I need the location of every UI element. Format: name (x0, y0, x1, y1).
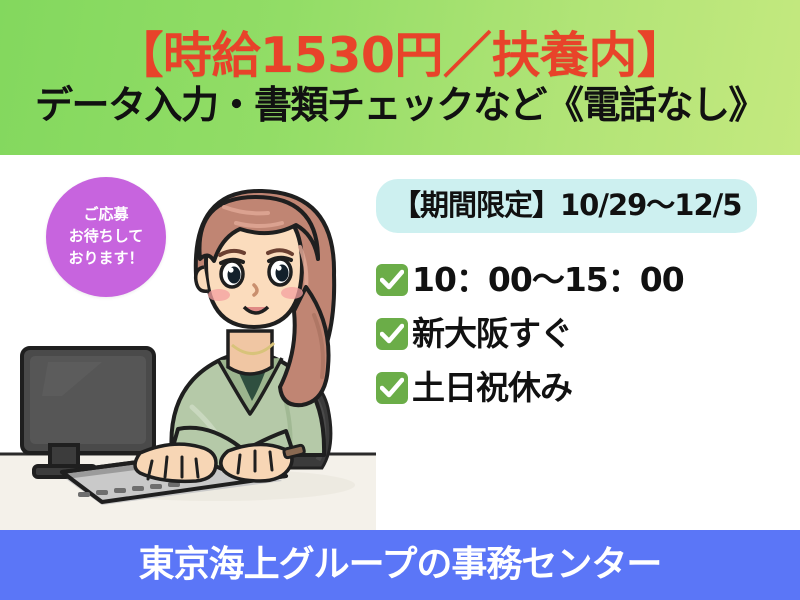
checklist-label: 新大阪すぐ (412, 317, 572, 350)
job-advertisement-banner: 【時給1530円／扶養内】 データ入力・書類チェックなど《電話なし》 (0, 0, 800, 600)
bubble-line-1: ご応募 (83, 204, 128, 226)
blush-right (281, 287, 303, 299)
checklist-label: 土日祝休み (412, 371, 572, 404)
company-name: 東京海上グループの事務センター (139, 547, 662, 583)
bubble-line-2: お待ちして (69, 226, 144, 248)
page-title: 【時給1530円／扶養内】 (115, 31, 686, 80)
mouth (244, 307, 268, 313)
check-icon (376, 264, 408, 296)
check-icon (376, 318, 408, 350)
bubble-line-3: おります！ (68, 248, 143, 270)
header-band: 【時給1530円／扶養内】 データ入力・書類チェックなど《電話なし》 (0, 0, 800, 155)
period-badge: 【期間限定】10/29〜12/5 (376, 179, 757, 233)
content-area: ご応募 お待ちして おります！ 【期間限定】10/29〜12/5 10：00〜1… (0, 155, 800, 530)
page-subtitle: データ入力・書類チェックなど《電話なし》 (35, 86, 765, 124)
details-panel: 【期間限定】10/29〜12/5 10：00〜15：00 (376, 179, 788, 425)
footer-band: 東京海上グループの事務センター (0, 530, 800, 600)
apply-bubble: ご応募 お待ちして おります！ (46, 177, 166, 297)
benefits-checklist: 10：00〜15：00 新大阪すぐ (376, 263, 788, 404)
check-icon (376, 372, 408, 404)
checklist-item-location: 新大阪すぐ (376, 317, 788, 350)
checklist-item-hours: 10：00〜15：00 (376, 263, 788, 296)
checklist-label: 10：00〜15：00 (412, 263, 684, 296)
checklist-item-holidays: 土日祝休み (376, 371, 788, 404)
blush-left (208, 289, 230, 301)
